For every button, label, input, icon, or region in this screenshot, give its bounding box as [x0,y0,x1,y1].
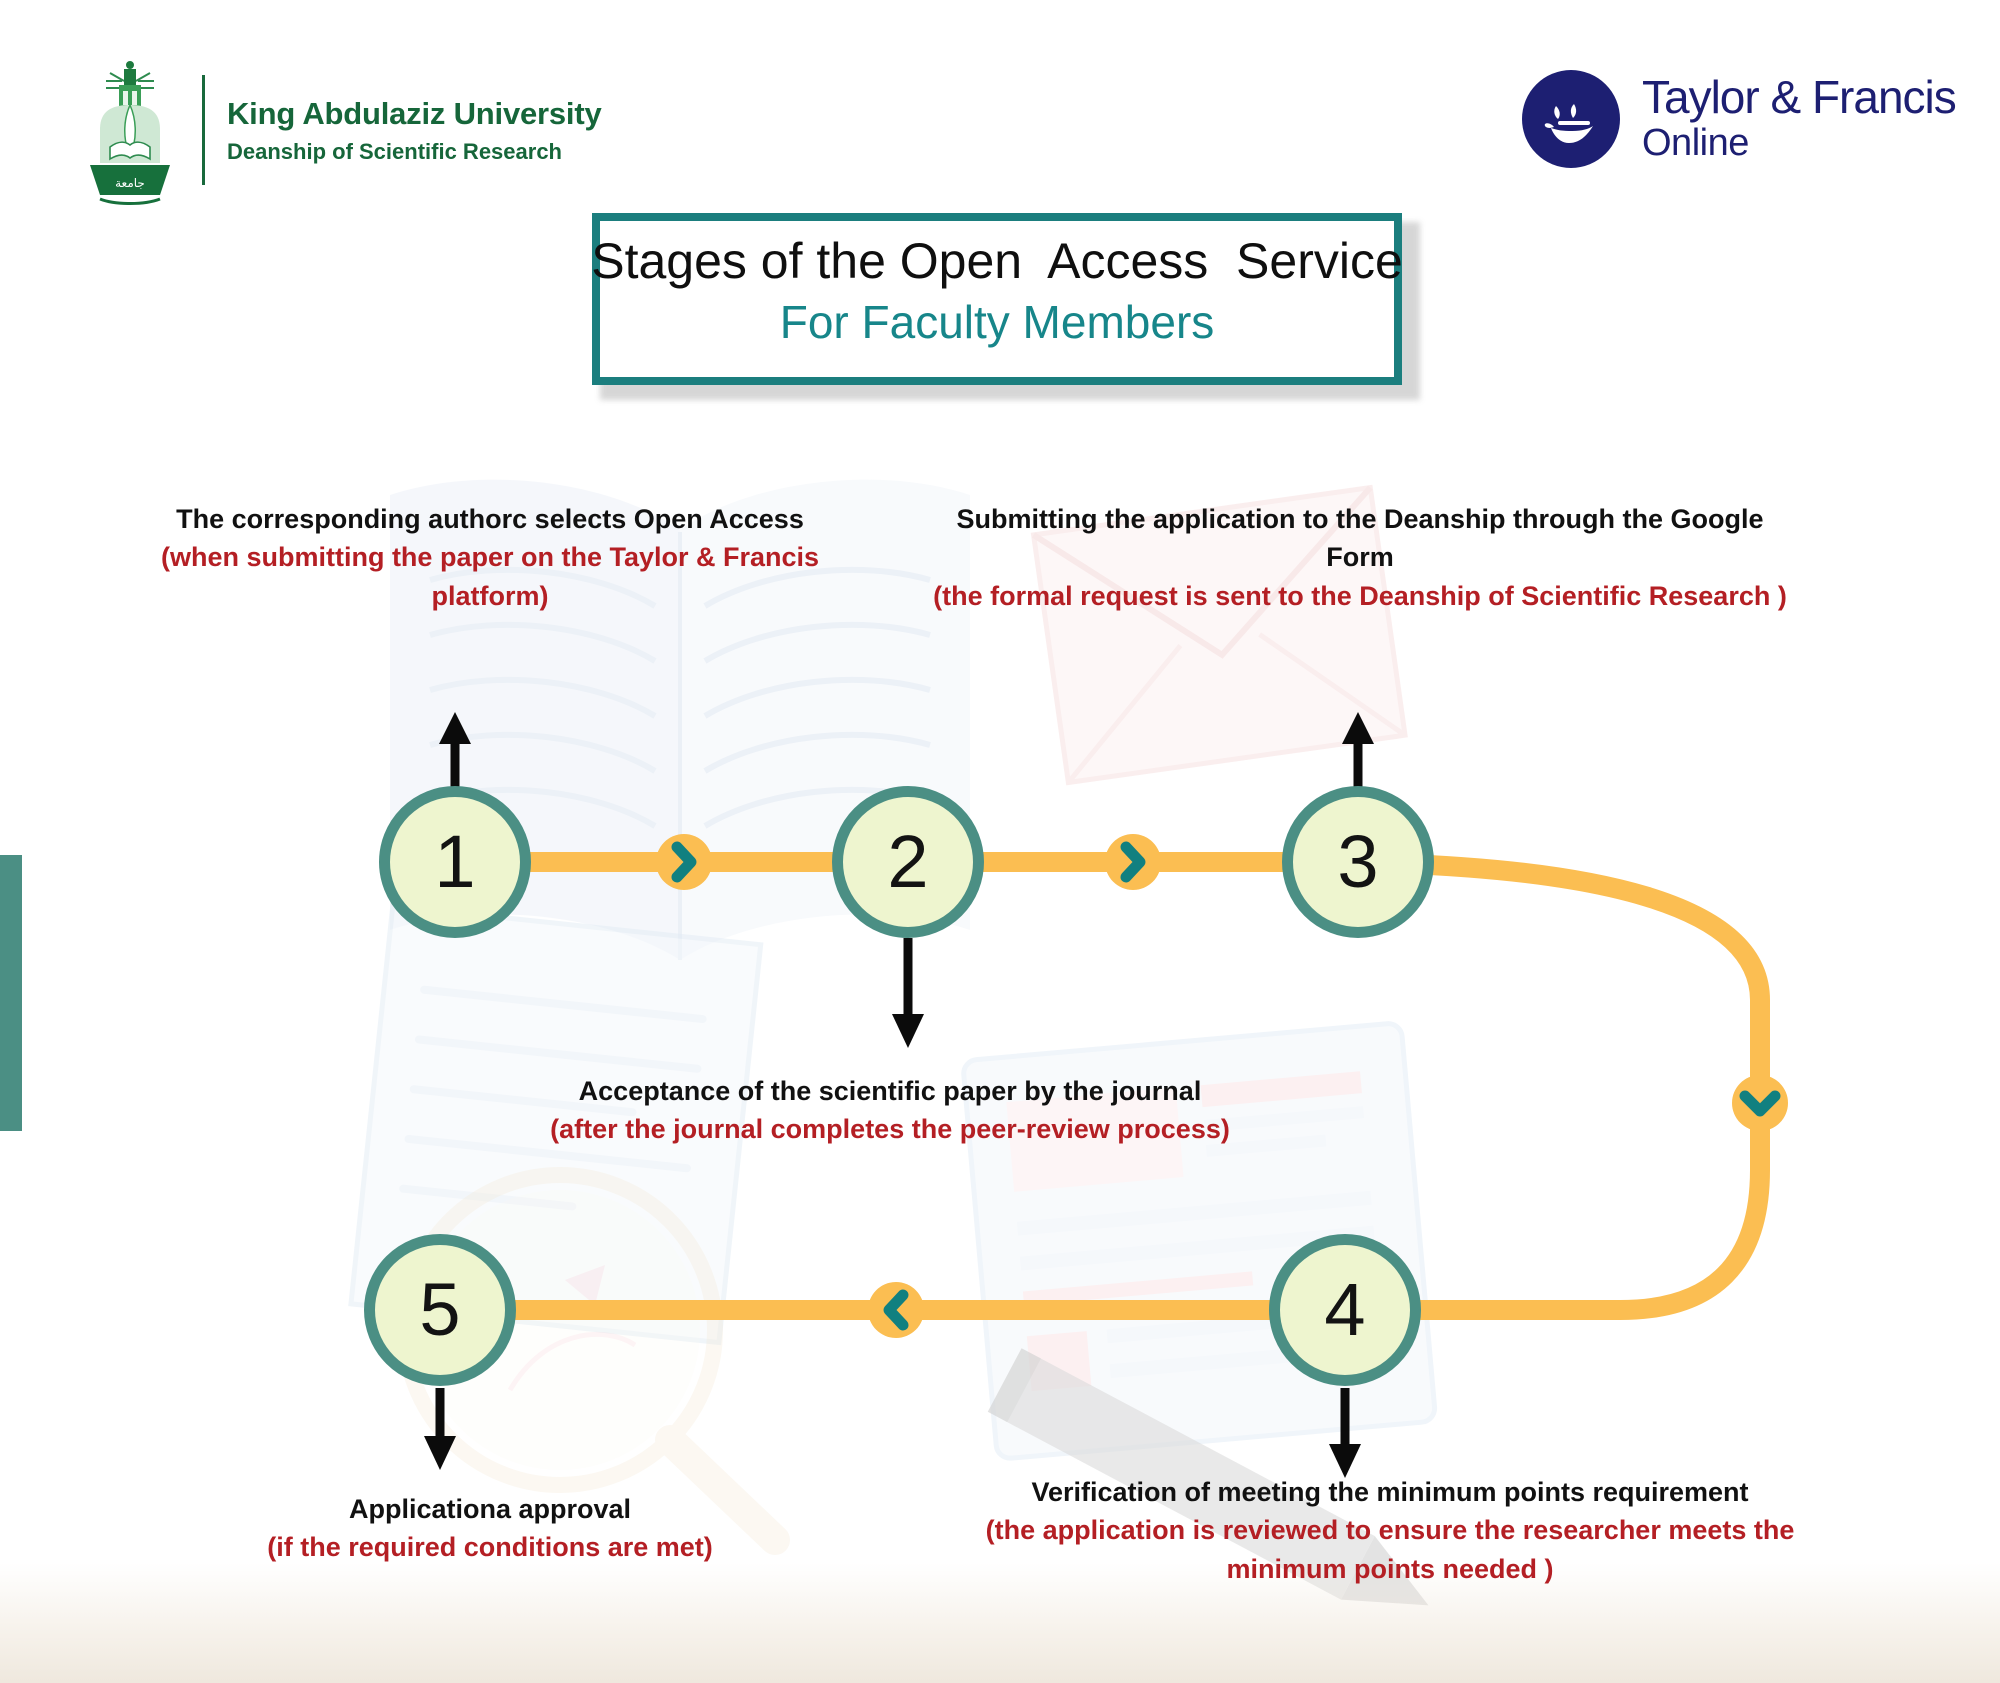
label-step-4-main: Verification of meeting the minimum poin… [950,1473,1830,1511]
flow-node-4[interactable]: 4 [1269,1234,1421,1386]
flow-node-4-number: 4 [1324,1273,1365,1347]
flow-node-3-number: 3 [1337,825,1378,899]
label-step-2: Acceptance of the scientific paper by th… [470,1072,1310,1149]
flow-connectors [0,0,2000,1683]
label-step-5-main: Applicationa approval [150,1490,830,1528]
chevron-3-4-bg [1732,1075,1788,1131]
flow-node-5-number: 5 [419,1273,460,1347]
infographic-canvas: جامعة King Abdulaziz University Deanship… [0,0,2000,1683]
label-step-3-note: (the formal request is sent to the Deans… [920,577,1800,615]
label-step-1-note: (when submitting the paper on the Taylor… [140,538,840,615]
label-step-1-main: The corresponding authorc selects Open A… [140,500,840,538]
label-step-5-note: (if the required conditions are met) [150,1528,830,1566]
label-step-4: Verification of meeting the minimum poin… [950,1473,1830,1588]
flow-node-1[interactable]: 1 [379,786,531,938]
label-step-3: Submitting the application to the Deansh… [920,500,1800,615]
label-step-2-note: (after the journal completes the peer-re… [470,1110,1310,1148]
label-step-5: Applicationa approval (if the required c… [150,1490,830,1567]
flow-node-2[interactable]: 2 [832,786,984,938]
flow-node-1-number: 1 [434,825,475,899]
label-step-4-note: (the application is reviewed to ensure t… [950,1511,1830,1588]
flow-node-3[interactable]: 3 [1282,786,1434,938]
label-step-2-main: Acceptance of the scientific paper by th… [470,1072,1310,1110]
flow-node-2-number: 2 [887,825,928,899]
label-step-3-main: Submitting the application to the Deansh… [920,500,1800,577]
flow-node-5[interactable]: 5 [364,1234,516,1386]
label-step-1: The corresponding authorc selects Open A… [140,500,840,615]
